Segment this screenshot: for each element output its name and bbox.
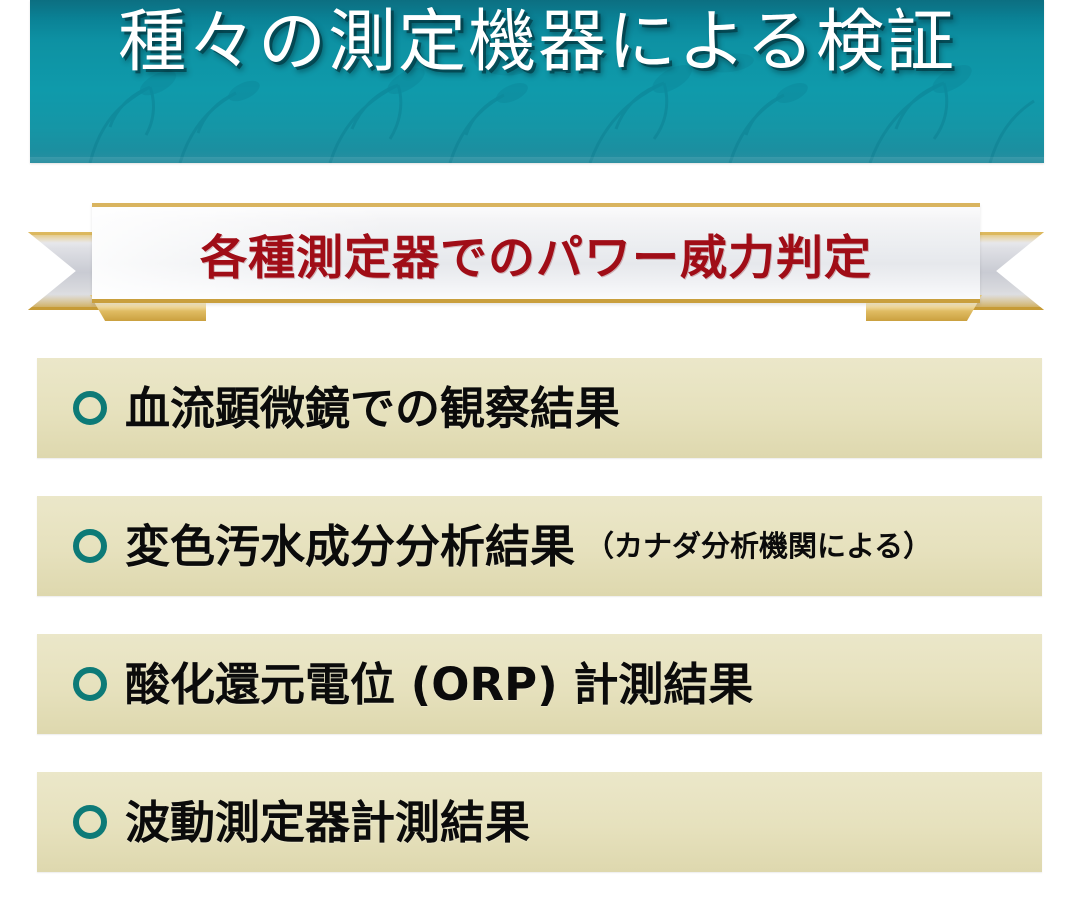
header-banner: 種々の測定機器による検証 xyxy=(30,0,1044,163)
list-item-label: 血流顕微鏡での観察結果 xyxy=(125,386,620,431)
circle-bullet-icon xyxy=(73,805,107,839)
list-item-sublabel: （カナダ分析機関による） xyxy=(585,532,932,561)
list-item-label: 酸化還元電位 (ORP) 計測結果 xyxy=(125,662,753,707)
list-item[interactable]: 酸化還元電位 (ORP) 計測結果 xyxy=(37,634,1042,734)
list-item-label: 波動測定器計測結果 xyxy=(125,800,530,845)
header-bottom-line xyxy=(30,157,1044,163)
ribbon-title: 各種測定器でのパワー威力判定 xyxy=(92,219,980,288)
circle-bullet-icon xyxy=(73,391,107,425)
list-item-label: 変色汚水成分分析結果 xyxy=(125,524,575,569)
list-item[interactable]: 血流顕微鏡での観察結果 xyxy=(37,358,1042,458)
ribbon-band: 各種測定器でのパワー威力判定 xyxy=(92,203,980,303)
list-item[interactable]: 変色汚水成分分析結果 （カナダ分析機関による） xyxy=(37,496,1042,596)
page-title: 種々の測定機器による検証 xyxy=(30,6,1044,79)
circle-bullet-icon xyxy=(73,529,107,563)
list-item[interactable]: 波動測定器計測結果 xyxy=(37,772,1042,872)
ribbon-banner: 各種測定器でのパワー威力判定 xyxy=(28,196,1044,326)
circle-bullet-icon xyxy=(73,667,107,701)
